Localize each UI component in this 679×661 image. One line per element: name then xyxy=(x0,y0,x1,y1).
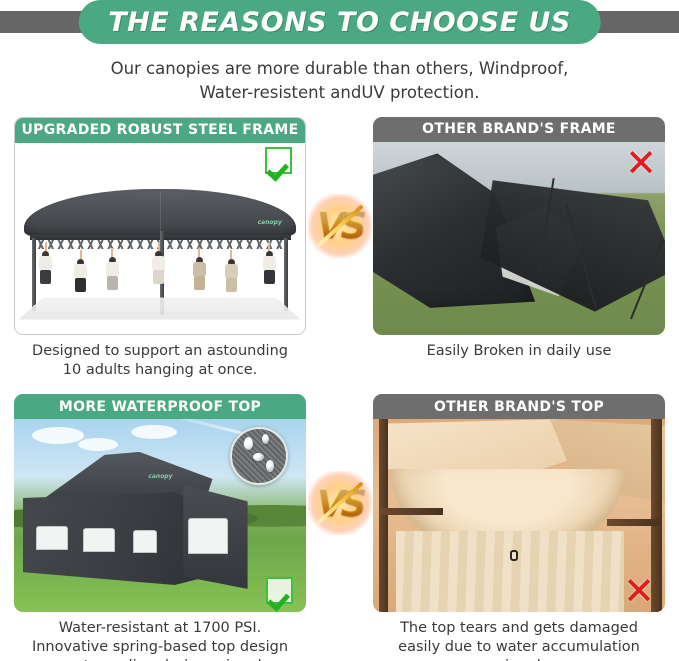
bad-card-frame: OTHER BRAND'S FRAME ✕ xyxy=(373,117,665,335)
bad-card-header-label-frame: OTHER BRAND'S FRAME xyxy=(422,121,616,137)
broken-tent-illustration xyxy=(373,142,665,335)
subheadline: Our canopies are more durable than other… xyxy=(0,57,679,105)
good-card-header-label-frame: UPGRADED ROBUST STEEL FRAME xyxy=(22,122,299,138)
good-caption-frame: Designed to support an astounding 10 adu… xyxy=(14,335,306,380)
good-caption-line-2: 10 adults hanging at once. xyxy=(14,361,306,380)
bad-card-header-frame: OTHER BRAND'S FRAME xyxy=(373,117,665,142)
good-caption-top-line-2: Innovative spring-based top design xyxy=(14,638,306,657)
bad-card-header-label-top: OTHER BRAND'S TOP xyxy=(434,399,604,415)
good-card-header-top: MORE WATERPROOF TOP xyxy=(14,394,306,419)
bad-caption-frame: Easily Broken in daily use xyxy=(373,335,665,380)
good-caption-line-1: Designed to support an astounding xyxy=(14,342,306,361)
waterproof-canopy-illustration: canopy xyxy=(14,419,306,612)
captions-row-frame: Designed to support an astounding 10 adu… xyxy=(0,335,679,380)
banner-title: THE REASONS TO CHOOSE US xyxy=(108,7,571,38)
bad-caption-top: The top tears and gets damaged easily du… xyxy=(373,612,665,661)
header-banner: THE REASONS TO CHOOSE US xyxy=(0,0,679,46)
good-card-image-top: canopy xyxy=(14,419,306,612)
bad-caption-top-line-1: The top tears and gets damaged xyxy=(373,619,665,638)
good-column-frame: UPGRADED ROBUST STEEL FRAME canopy xyxy=(14,117,306,335)
vs-badge-frame: VS xyxy=(308,194,372,258)
good-caption-top: Water-resistant at 1700 PSI. Innovative … xyxy=(14,612,306,661)
bad-caption-top-line-2: easily due to water accumulation xyxy=(373,638,665,657)
bad-column-top: OTHER BRAND'S TOP xyxy=(373,394,665,612)
water-bead-zoom-inset xyxy=(230,427,288,485)
bad-card-top: OTHER BRAND'S TOP xyxy=(373,394,665,612)
canopy-hanging-people-illustration: canopy xyxy=(15,143,305,334)
good-card-header-label-top: MORE WATERPROOF TOP xyxy=(59,399,261,415)
good-caption-top-line-1: Water-resistant at 1700 PSI. xyxy=(14,619,306,638)
subheadline-line-2: Water-resistent andUV protection. xyxy=(40,81,639,105)
good-caption-top-line-3: prevents pooling during rainy days xyxy=(14,657,306,661)
vs-badge-top: VS xyxy=(308,471,372,535)
bad-column-frame: OTHER BRAND'S FRAME ✕ xyxy=(373,117,665,335)
comparison-row-frame: UPGRADED ROBUST STEEL FRAME canopy xyxy=(0,117,679,335)
good-card-image-frame: canopy xyxy=(15,143,305,334)
x-mark-icon-top: ✕ xyxy=(623,572,655,610)
bad-card-image-top: ✕ xyxy=(373,419,665,612)
good-card-top: MORE WATERPROOF TOP canopy xyxy=(14,394,306,612)
good-card-frame: UPGRADED ROBUST STEEL FRAME canopy xyxy=(14,117,306,335)
banner-pill: THE REASONS TO CHOOSE US xyxy=(78,0,601,44)
good-column-top: MORE WATERPROOF TOP canopy xyxy=(14,394,306,612)
x-mark-icon: ✕ xyxy=(625,144,657,182)
captions-row-top: Water-resistant at 1700 PSI. Innovative … xyxy=(0,612,679,661)
sagging-canopy-illustration xyxy=(373,419,665,612)
bad-caption-line-1: Easily Broken in daily use xyxy=(373,342,665,361)
comparison-row-top: MORE WATERPROOF TOP canopy xyxy=(0,394,679,612)
check-mark-icon xyxy=(265,147,292,174)
check-mark-icon-top xyxy=(266,577,293,604)
comparison-rows: UPGRADED ROBUST STEEL FRAME canopy xyxy=(0,117,679,661)
good-card-header-frame: UPGRADED ROBUST STEEL FRAME xyxy=(15,118,305,143)
bad-card-header-top: OTHER BRAND'S TOP xyxy=(373,394,665,419)
bad-caption-top-line-3: on rainy days. xyxy=(373,657,665,661)
subheadline-line-1: Our canopies are more durable than other… xyxy=(40,57,639,81)
bad-card-image-frame: ✕ xyxy=(373,142,665,335)
infographic-page: THE REASONS TO CHOOSE US Our canopies ar… xyxy=(0,0,679,661)
